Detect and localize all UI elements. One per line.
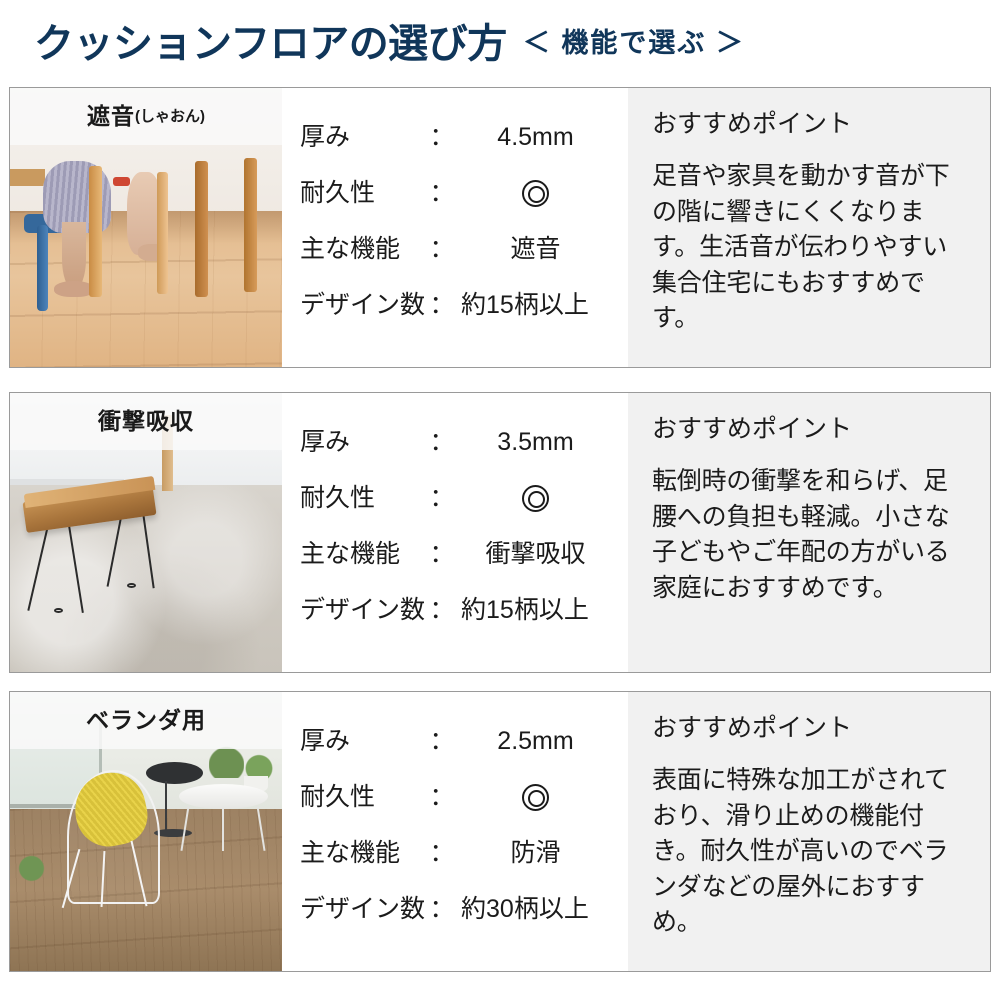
spec-colon: ： [425, 542, 459, 567]
page-title: クッションフロアの選び方 [34, 24, 507, 64]
spec-row-durability: 耐久性 ： [300, 470, 612, 526]
infographic-page: クッションフロアの選び方 ＜ 機能で選ぶ ＞ [0, 0, 1000, 1000]
spec-row-thickness: 厚み ： 3.5mm [300, 414, 612, 470]
spec-value-durability [459, 784, 612, 811]
spec-key-durability: 耐久性 [300, 785, 425, 810]
double-circle-icon [522, 180, 549, 207]
spec-row-thickness: 厚み ： 4.5mm [300, 109, 612, 165]
points-panel-shock-absorbing: おすすめポイント 転倒時の衝撃を和らげ、足腰への負担も軽減。小さな子どもやご年配… [628, 393, 990, 672]
spec-colon: ： [425, 181, 459, 206]
card-label-main: 衝撃吸収 [98, 410, 194, 433]
spec-value-design-count: 約15柄以上 [459, 293, 612, 318]
points-panel-veranda: おすすめポイント 表面に特殊な加工がされており、滑り止めの機能付き。耐久性が高い… [628, 692, 990, 971]
spec-row-function: 主な機能 ： 防滑 [300, 825, 612, 881]
card-label-main: ベランダ用 [86, 709, 206, 732]
double-circle-icon [522, 485, 549, 512]
spec-colon: ： [425, 486, 459, 511]
spec-row-function: 主な機能 ： 衝撃吸収 [300, 526, 612, 582]
points-title: おすすめポイント [652, 716, 966, 741]
points-panel-shaon: おすすめポイント 足音や家具を動かす音が下の階に響きにくくなります。生活音が伝わ… [628, 88, 990, 367]
spec-row-thickness: 厚み ： 2.5mm [300, 713, 612, 769]
spec-value-design-count: 約15柄以上 [459, 598, 612, 623]
spec-colon: ： [425, 841, 459, 866]
points-body: 表面に特殊な加工がされており、滑り止めの機能付き。耐久性が高いのでベランダなどの… [652, 763, 966, 941]
spec-row-design-count: デザイン数 ： 約15柄以上 [300, 277, 612, 333]
spec-row-durability: 耐久性 ： [300, 769, 612, 825]
spec-row-design-count: デザイン数 ： 約30柄以上 [300, 881, 612, 937]
product-card-veranda: ベランダ用 厚み ： 2.5mm 耐久性 ： 主な機能 ： 防滑 デザイン数 [9, 691, 991, 972]
spec-value-function: 防滑 [459, 841, 612, 866]
spec-colon: ： [425, 237, 459, 262]
spec-value-function: 衝撃吸収 [459, 542, 612, 567]
spec-row-function: 主な機能 ： 遮音 [300, 221, 612, 277]
spec-colon: ： [425, 785, 459, 810]
page-subtitle: ＜ 機能で選ぶ ＞ [523, 30, 745, 57]
product-card-shaon: 遮音 (しゃおん) 厚み ： 4.5mm 耐久性 ： 主な機能 ： 遮音 デザイ… [9, 87, 991, 368]
spec-value-function: 遮音 [459, 237, 612, 262]
spec-key-design-count: デザイン数 [300, 598, 425, 623]
spec-table-shock-absorbing: 厚み ： 3.5mm 耐久性 ： 主な機能 ： 衝撃吸収 デザイン数 ： 約15… [282, 393, 628, 672]
card-label-shaon: 遮音 (しゃおん) [10, 88, 282, 145]
spec-value-thickness: 3.5mm [459, 430, 612, 455]
spec-key-function: 主な機能 [300, 542, 425, 567]
spec-colon: ： [425, 729, 459, 754]
card-label-main: 遮音 [87, 105, 135, 128]
spec-value-design-count: 約30柄以上 [459, 897, 612, 922]
card-photo-shaon: 遮音 (しゃおん) [10, 88, 282, 367]
points-body: 転倒時の衝撃を和らげ、足腰への負担も軽減。小さな子どもやご年配の方がいる家庭にお… [652, 464, 966, 606]
spec-key-design-count: デザイン数 [300, 293, 425, 318]
spec-key-function: 主な機能 [300, 841, 425, 866]
points-title: おすすめポイント [652, 112, 966, 137]
page-header: クッションフロアの選び方 ＜ 機能で選ぶ ＞ [0, 0, 1000, 87]
card-label-veranda: ベランダ用 [10, 692, 282, 749]
spec-colon: ： [425, 598, 459, 623]
card-label-ruby: (しゃおん) [135, 109, 205, 124]
spec-value-thickness: 2.5mm [459, 729, 612, 754]
spec-key-thickness: 厚み [300, 430, 425, 455]
spec-value-durability [459, 485, 612, 512]
spec-colon: ： [425, 293, 459, 318]
spec-table-veranda: 厚み ： 2.5mm 耐久性 ： 主な機能 ： 防滑 デザイン数 ： 約30柄以… [282, 692, 628, 971]
product-card-shock-absorbing: 衝撃吸収 厚み ： 3.5mm 耐久性 ： 主な機能 ： 衝撃吸収 デザイン数 [9, 392, 991, 673]
spec-key-durability: 耐久性 [300, 486, 425, 511]
spec-key-function: 主な機能 [300, 237, 425, 262]
spec-key-thickness: 厚み [300, 125, 425, 150]
card-label-shock-absorbing: 衝撃吸収 [10, 393, 282, 450]
spec-colon: ： [425, 897, 459, 922]
spec-value-thickness: 4.5mm [459, 125, 612, 150]
spec-value-durability [459, 180, 612, 207]
spec-key-durability: 耐久性 [300, 181, 425, 206]
points-title: おすすめポイント [652, 417, 966, 442]
points-body: 足音や家具を動かす音が下の階に響きにくくなります。生活音が伝わりやすい集合住宅に… [652, 159, 966, 337]
spec-key-design-count: デザイン数 [300, 897, 425, 922]
spec-colon: ： [425, 430, 459, 455]
spec-row-design-count: デザイン数 ： 約15柄以上 [300, 582, 612, 638]
card-photo-veranda: ベランダ用 [10, 692, 282, 971]
spec-colon: ： [425, 125, 459, 150]
card-photo-shock-absorbing: 衝撃吸収 [10, 393, 282, 672]
spec-table-shaon: 厚み ： 4.5mm 耐久性 ： 主な機能 ： 遮音 デザイン数 ： 約15柄以… [282, 88, 628, 367]
double-circle-icon [522, 784, 549, 811]
spec-key-thickness: 厚み [300, 729, 425, 754]
spec-row-durability: 耐久性 ： [300, 165, 612, 221]
